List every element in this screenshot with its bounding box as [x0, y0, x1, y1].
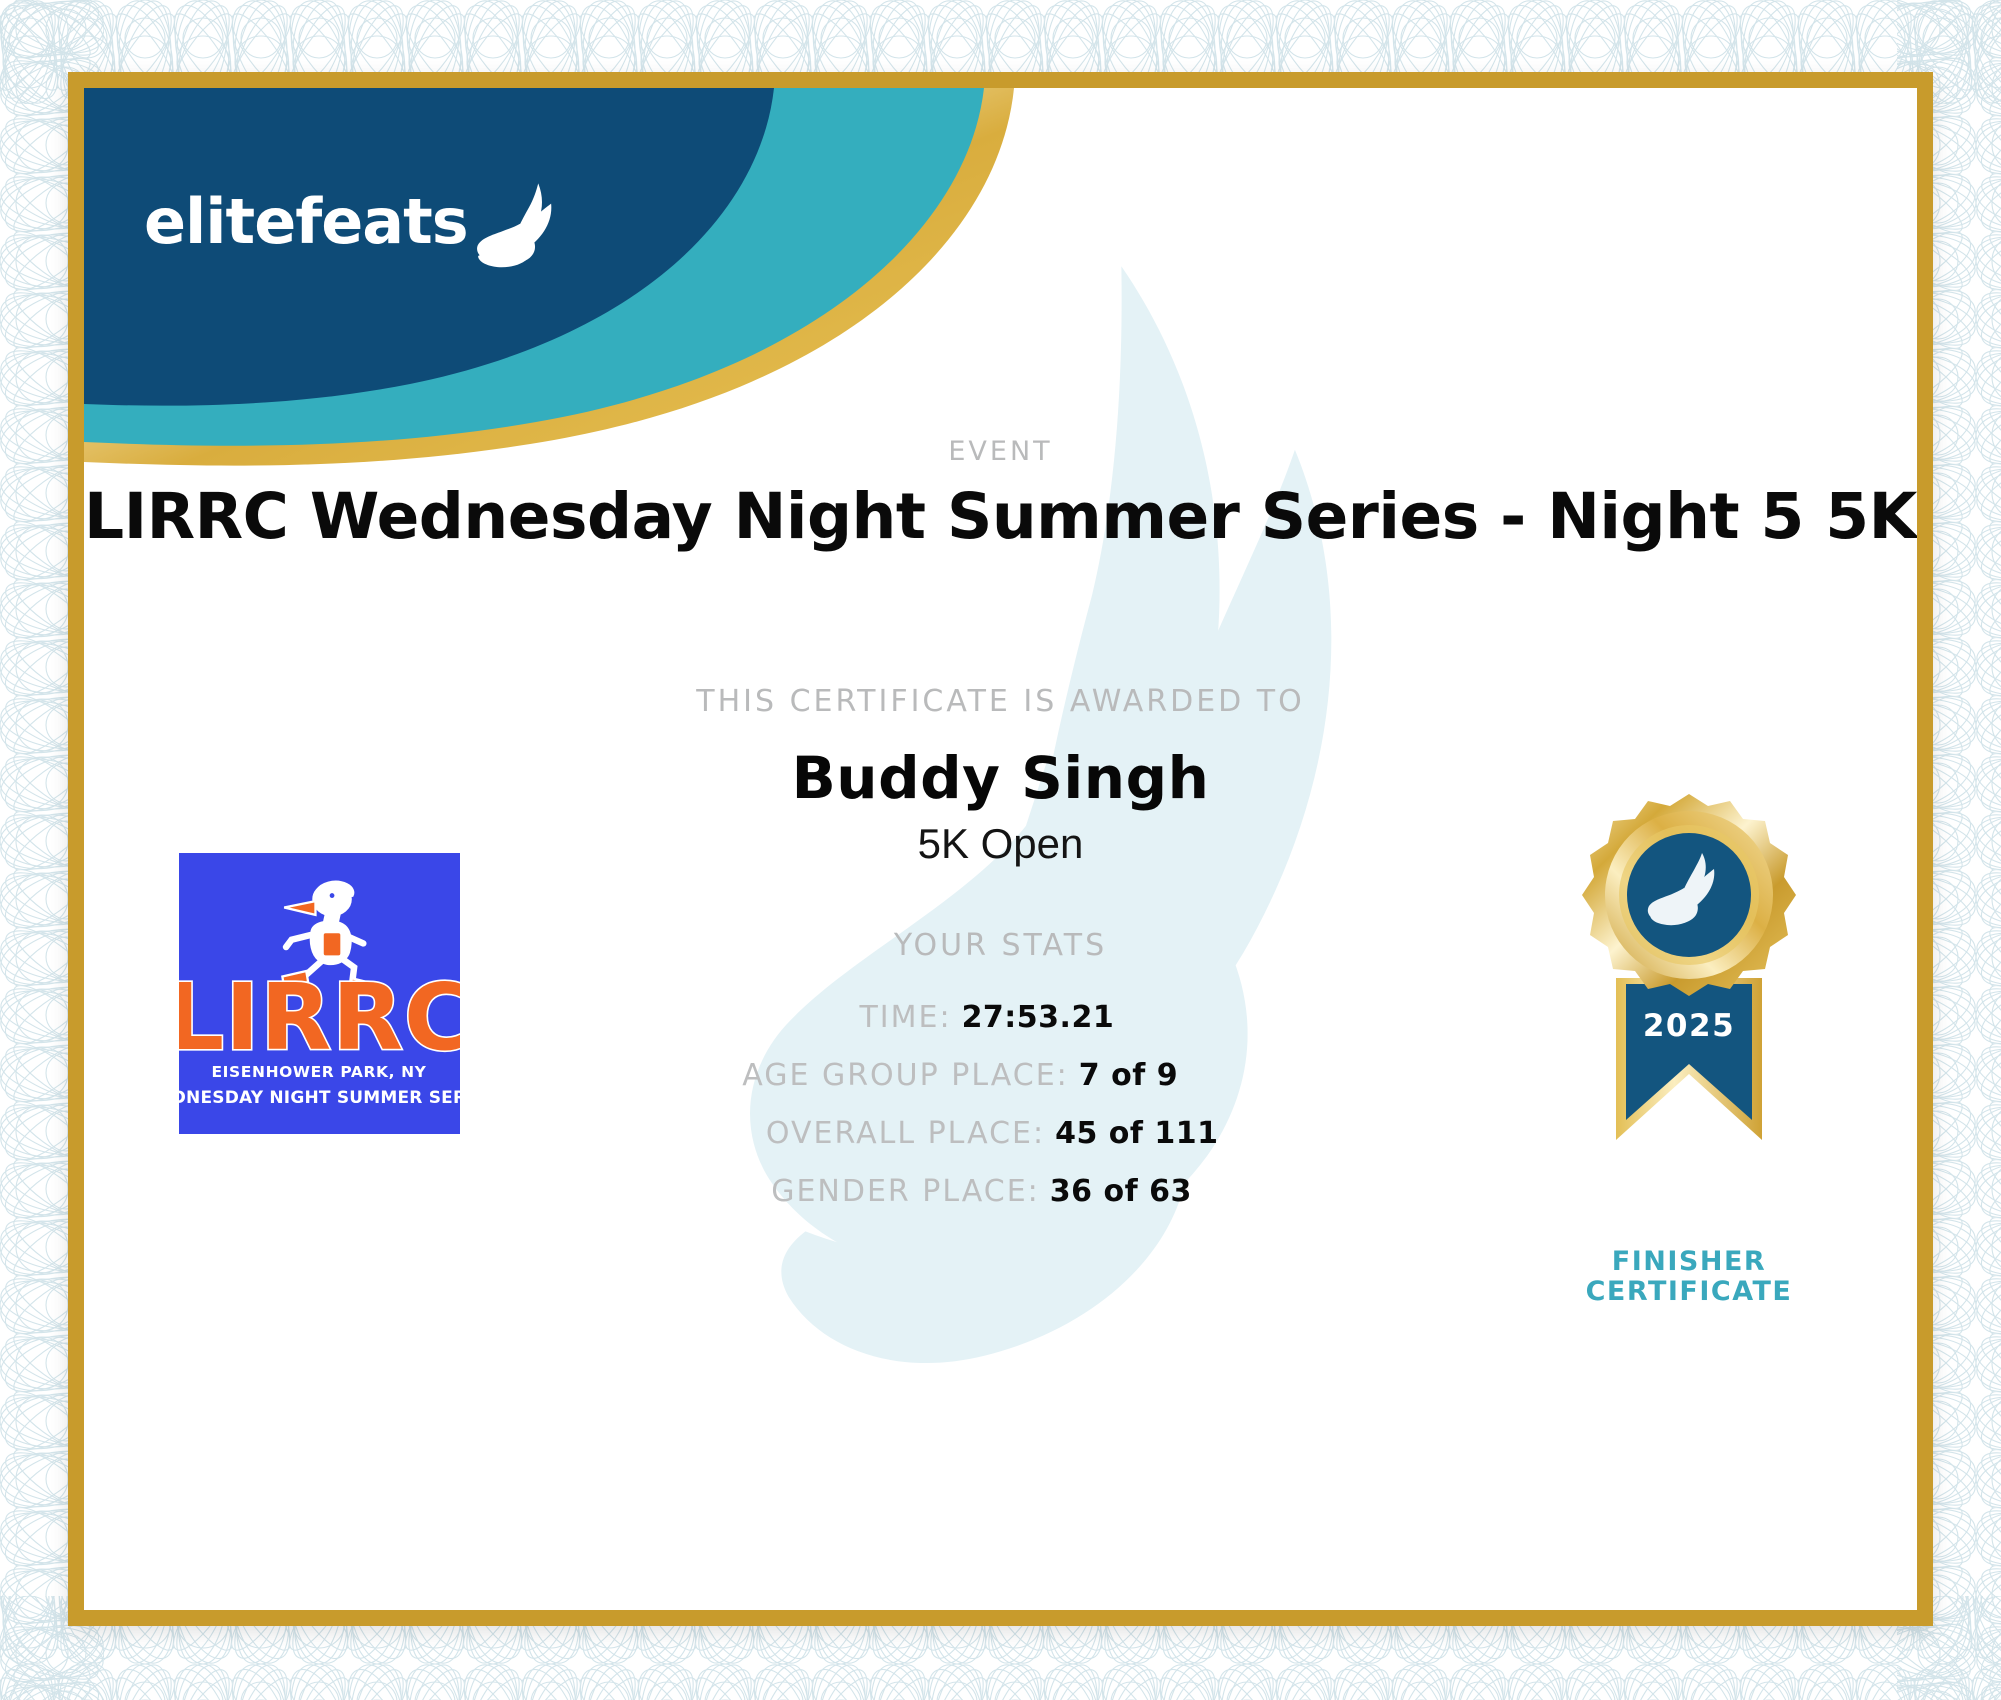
- lirrc-club-logo: LIRRC EISENHOWER PARK, NY WEDNESDAY NIGH…: [179, 853, 460, 1134]
- medal-caption-line2: CERTIFICATE: [1539, 1277, 1839, 1307]
- medal-caption-line1: FINISHER: [1539, 1247, 1839, 1277]
- event-title: LIRRC Wednesday Night Summer Series - Ni…: [84, 480, 1917, 553]
- lirrc-wordmark: LIRRC: [179, 964, 460, 1071]
- stat-key-overall-place: OVERALL PLACE:: [766, 1116, 1045, 1151]
- lirrc-series: WEDNESDAY NIGHT SUMMER SERIES: [179, 1088, 460, 1108]
- lirrc-location: EISENHOWER PARK, NY: [211, 1063, 426, 1081]
- svg-text:LIRRC: LIRRC: [179, 964, 460, 1071]
- stat-value-overall-place: 45 of 111: [1055, 1116, 1235, 1151]
- certificate-gold-frame: elitefeats EVENT LIRRC Wednesday Night S…: [68, 72, 1933, 1626]
- awarded-to-label: THIS CERTIFICATE IS AWARDED TO: [84, 684, 1917, 719]
- stat-key-time: TIME:: [859, 1000, 951, 1035]
- stat-value-time: 27:53.21: [962, 1000, 1142, 1035]
- stat-key-age-group-place: AGE GROUP PLACE:: [742, 1058, 1069, 1093]
- medal-badge: [1582, 794, 1796, 996]
- stat-value-gender-place: 36 of 63: [1050, 1174, 1230, 1209]
- stat-key-gender-place: GENDER PLACE:: [771, 1174, 1040, 1209]
- certificate-body: elitefeats EVENT LIRRC Wednesday Night S…: [84, 88, 1917, 1610]
- medal-graphic: 2025: [1562, 788, 1817, 1243]
- medal-year: 2025: [1642, 1008, 1734, 1044]
- medal-caption: FINISHER CERTIFICATE: [1539, 1247, 1839, 1307]
- medal-ribbon: 2025: [1616, 978, 1762, 1140]
- certificate-content: EVENT LIRRC Wednesday Night Summer Serie…: [84, 88, 1917, 1610]
- certificate-page: elitefeats EVENT LIRRC Wednesday Night S…: [0, 0, 2001, 1700]
- event-label: EVENT: [84, 436, 1917, 467]
- finisher-medal: 2025: [1539, 788, 1839, 1307]
- stat-value-age-group-place: 7 of 9: [1079, 1058, 1259, 1093]
